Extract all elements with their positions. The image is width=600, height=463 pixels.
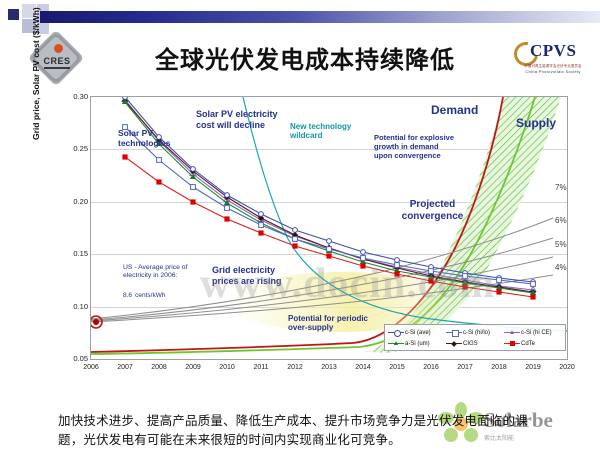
- legend-label: CIGS: [463, 341, 478, 347]
- annotation-us-average-price: US - Average price of electricity in 200…: [123, 264, 215, 280]
- page-title: 全球光伏发电成本持续降低: [120, 40, 490, 75]
- legend-item-c-si-hi-lo[interactable]: c-Si (hi/lo): [446, 329, 504, 337]
- y-tick-0.20: 0.20: [60, 197, 88, 206]
- annotation-line: Potential for explosive: [374, 133, 454, 142]
- annotation-line: New technology: [290, 122, 351, 131]
- legend-swatch-c-si-ave: [388, 329, 404, 337]
- x-tick-2020: 2020: [547, 364, 587, 371]
- annotation-line: Grid electricity: [212, 265, 275, 275]
- annotation-line: electricity in 2006:: [123, 272, 177, 279]
- y-tick-0.30: 0.30: [60, 92, 88, 101]
- y-axis-label: Grid price, Solar PV cost ($/kWh): [31, 0, 41, 140]
- y-tick-0.15: 0.15: [60, 249, 88, 258]
- cpvs-chinese-name: 中国可再生能源学会光伏专业委员会: [512, 63, 594, 68]
- decoration-square-dark: [8, 9, 19, 20]
- legend-label: CdTe: [521, 341, 535, 347]
- us-price-number: 8.6: [123, 292, 132, 299]
- y-tick-0.05: 0.05: [60, 354, 88, 363]
- legend-row-1: c-Si (ave) c-Si (hi/lo) c-Si (hi CE): [388, 327, 562, 338]
- legend-label: c-Si (hi CE): [521, 330, 552, 336]
- annotation-periodic-oversupply: Potential for periodic over-supply: [288, 314, 380, 333]
- annotation-line: upon convergence: [374, 151, 441, 160]
- legend-item-cdte[interactable]: CdTe: [504, 340, 562, 348]
- cpvs-logo: CPVS 中国可再生能源学会光伏专业委员会 China Photovoltaic…: [512, 38, 594, 84]
- chart-container: Grid price, Solar PV cost ($/kWh) 0.30 0…: [36, 92, 586, 380]
- legend-swatch-cigs: [446, 340, 462, 348]
- annotation-solar-pv-technologies: Solar PV technologies: [118, 128, 178, 148]
- annotation-line: Projected: [410, 199, 456, 210]
- annotation-line: Potential for periodic: [288, 314, 368, 323]
- annotation-projected-convergence: Projected convergence: [390, 199, 475, 223]
- legend-swatch-c-si-hi-ce: [504, 329, 520, 337]
- annotation-line: cost will decline: [196, 120, 265, 130]
- annotation-line: technologies: [118, 138, 170, 148]
- grid-growth-label-7pct: 7%: [555, 183, 567, 192]
- header-gradient-bar: [40, 11, 600, 23]
- annotation-line: growth in demand: [374, 142, 439, 151]
- annotation-line: US - Average price of: [123, 264, 187, 271]
- legend-swatch-cdte: [504, 340, 520, 348]
- annotation-grid-prices-rising: Grid electricity prices are rising: [212, 265, 290, 286]
- annotation-line: over-supply: [288, 323, 333, 332]
- legend-item-a-si-um[interactable]: a-Si (um): [388, 340, 446, 348]
- legend-label: c-Si (ave): [405, 330, 431, 336]
- us-price-unit: cents/kWh: [135, 292, 165, 299]
- annotation-cost-will-decline: Solar PV electricity cost will decline: [196, 109, 296, 130]
- grid-growth-label-6pct: 6%: [555, 216, 567, 225]
- legend-swatch-a-si-um: [388, 340, 404, 348]
- grid-growth-label-5pct: 5%: [555, 240, 567, 249]
- grid-growth-label-4pct: 4%: [555, 263, 567, 272]
- chart-legend: c-Si (ave) c-Si (hi/lo) c-Si (hi CE): [384, 324, 566, 351]
- legend-item-c-si-ave[interactable]: c-Si (ave): [388, 329, 446, 337]
- annotation-explosive-growth: Potential for explosive growth in demand…: [374, 134, 466, 161]
- annotation-line: wildcard: [290, 131, 322, 140]
- y-tick-0.25: 0.25: [60, 144, 88, 153]
- annotation-line: convergence: [402, 211, 464, 222]
- annotation-supply: Supply: [516, 116, 556, 130]
- slide-footer-text: 加快技术进步、提高产品质量、降低生产成本、提升市场竞争力是光伏发电面临的课题，光…: [58, 412, 548, 451]
- annotation-line: Solar PV: [118, 128, 153, 138]
- annotation-line: prices are rising: [212, 276, 282, 286]
- cpvs-english-name: China Photovoltaic Society: [512, 69, 594, 74]
- annotation-demand: Demand: [431, 103, 478, 117]
- legend-row-2: a-Si (um) CIGS CdTe: [388, 338, 562, 349]
- slide-header: CRES 全球光伏发电成本持续降低 CPVS 中国可再生能源学会光伏专业委员会 …: [0, 32, 600, 90]
- cres-sun-icon: [54, 44, 63, 53]
- legend-swatch-c-si-hi-lo: [446, 329, 462, 337]
- legend-label: a-Si (um): [405, 341, 430, 347]
- cpvs-wordmark: CPVS: [530, 41, 576, 61]
- annotation-us-average-value: 8.6 cents/kWh: [123, 288, 165, 301]
- annotation-new-technology-wildcard: New technology wildcard: [290, 122, 358, 141]
- legend-label: c-Si (hi/lo): [463, 330, 490, 336]
- legend-item-c-si-hi-ce[interactable]: c-Si (hi CE): [504, 329, 562, 337]
- legend-item-cigs[interactable]: CIGS: [446, 340, 504, 348]
- y-tick-0.10: 0.10: [60, 302, 88, 311]
- top-decoration-band: [0, 0, 600, 34]
- cres-underline: [44, 67, 70, 69]
- annotation-line: Solar PV electricity: [196, 109, 278, 119]
- cres-logo-text: CRES: [37, 56, 77, 66]
